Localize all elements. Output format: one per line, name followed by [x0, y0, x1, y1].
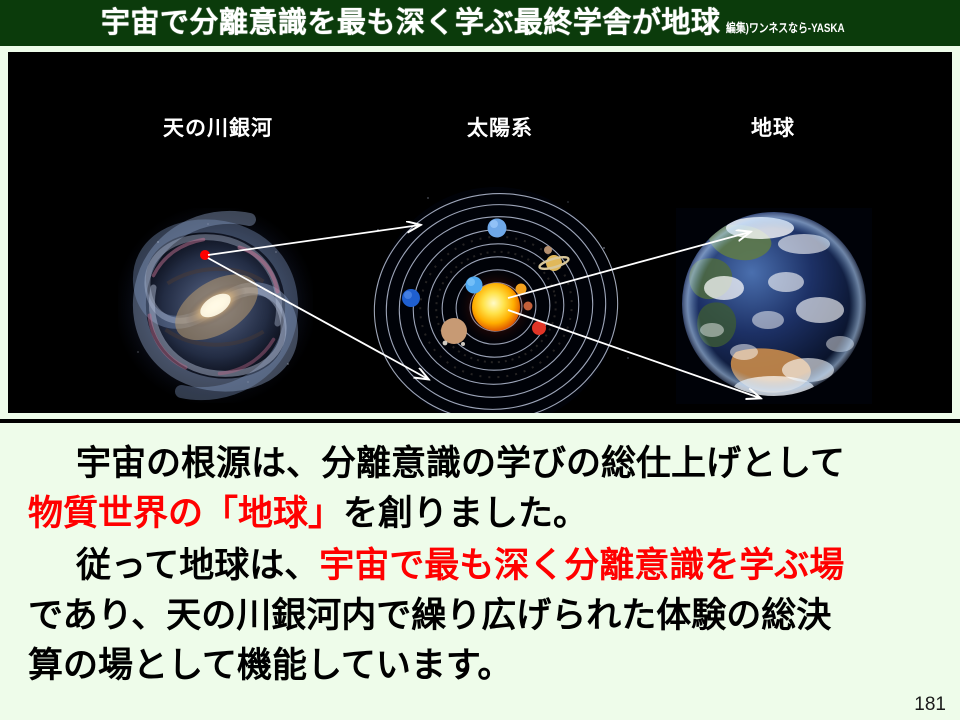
body-line-2-highlight: 物質世界の「地球」 [28, 494, 343, 533]
diagram-svg [8, 52, 952, 413]
slide-header: 宇宙で分離意識を最も深く学ぶ最終学舎が地球 編集)ワンネスなら-YASKA [0, 0, 960, 46]
paragraph-2: 従って地球は、宇宙で最も深く分離意識を学ぶ場 であり、天の川銀河内で繰り広げられ… [28, 541, 938, 691]
caption-galaxy: 天の川銀河 [163, 112, 273, 142]
caption-earth: 地球 [751, 112, 795, 142]
body-line-2: 物質世界の「地球」を創りました。 [28, 489, 938, 539]
paragraph-1: 宇宙の根源は、分離意識の学びの総仕上げとして 物質世界の「地球」を創りました。 [28, 439, 938, 539]
earth-image [676, 208, 872, 404]
solar-system-image [353, 171, 639, 413]
page-number: 181 [914, 694, 946, 716]
body-line-3-text: 従って地球は、 [76, 546, 319, 585]
caption-solar-system: 太陽系 [467, 112, 533, 142]
milky-way-galaxy-image [118, 208, 313, 403]
body-line-4: であり、天の川銀河内で繰り広げられた体験の総決 [28, 591, 938, 641]
planet-jupiter [441, 318, 467, 344]
body-line-5: 算の場として機能しています。 [28, 641, 938, 691]
diagram-panel: 天の川銀河 太陽系 地球 [8, 52, 952, 413]
header-credit: 編集)ワンネスなら-YASKA [726, 19, 845, 36]
body-line-4-text: であり、天の川銀河内で繰り広げられた体験の総決 [28, 596, 831, 635]
planet-uranus [488, 219, 507, 238]
body-line-5-text: 算の場として機能しています。 [28, 646, 512, 685]
body-line-3: 従って地球は、宇宙で最も深く分離意識を学ぶ場 [28, 541, 938, 591]
body-line-1-text: 宇宙の根源は、分離意識の学びの総仕上げとして [76, 444, 845, 483]
body-text-area: 宇宙の根源は、分離意識の学びの総仕上げとして 物質世界の「地球」を創りました。 … [0, 423, 960, 720]
planet-mars [524, 302, 533, 311]
body-line-1: 宇宙の根源は、分離意識の学びの総仕上げとして [28, 439, 938, 489]
page-title: 宇宙で分離意識を最も深く学ぶ最終学舎が地球 [101, 9, 721, 38]
body-line-2-text: を創りました。 [343, 494, 588, 533]
header-inner: 宇宙で分離意識を最も深く学ぶ最終学舎が地球 編集)ワンネスなら-YASKA [101, 9, 871, 38]
planet-small [544, 246, 552, 254]
planet-blue-inner [466, 277, 483, 294]
body-line-3-highlight: 宇宙で最も深く分離意識を学ぶ場 [319, 546, 844, 585]
planet-neptune [402, 289, 420, 307]
